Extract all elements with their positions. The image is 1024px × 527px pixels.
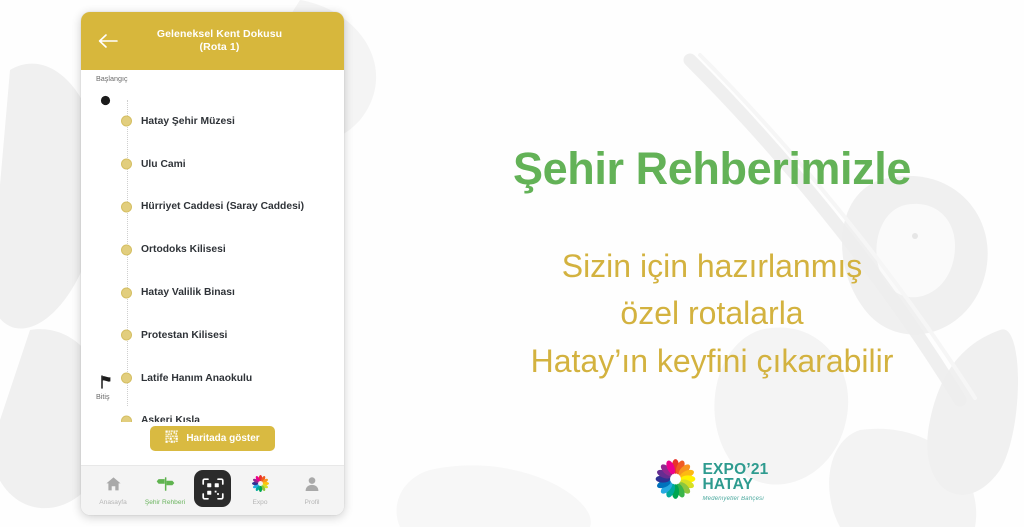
- nav-item-anasayfa[interactable]: Anasayfa: [90, 476, 136, 506]
- slide-canvas: Geleneksel Kent Dokusu (Rota 1) Başlangı…: [0, 0, 1024, 527]
- nav-item-expo[interactable]: Expo: [237, 475, 283, 506]
- expo-logo-tagline: Medeniyetler Bahçesi: [702, 496, 768, 502]
- route-node-icon: [121, 330, 132, 341]
- map-grid-icon: [165, 430, 179, 447]
- show-on-map-button[interactable]: Haritada göster: [150, 426, 274, 451]
- app-header: Geleneksel Kent Dokusu (Rota 1): [81, 12, 344, 70]
- stop-name: Hürriyet Caddesi (Saray Caddesi): [141, 201, 304, 212]
- back-arrow-icon[interactable]: [91, 24, 125, 58]
- list-item[interactable]: Askeri Kışla: [81, 400, 344, 422]
- nav-label-profil: Profil: [304, 499, 319, 506]
- route-end-label: Bitiş: [96, 392, 110, 401]
- stop-name: Latife Hanım Anaokulu: [141, 373, 252, 384]
- stop-name: Hatay Valilik Binası: [141, 287, 235, 298]
- stop-name: Ulu Cami: [141, 159, 186, 170]
- show-on-map-label: Haritada göster: [186, 433, 259, 444]
- signpost-icon: [156, 476, 175, 497]
- qr-scan-icon[interactable]: [194, 470, 231, 507]
- route-list: Başlangıç Hatay Şehir Müzesi Ulu Cami Hü…: [81, 70, 344, 422]
- list-item[interactable]: Protestan Kilisesi: [81, 314, 344, 357]
- promo-line-2: özel rotalarla: [400, 290, 1024, 337]
- expo-flower-icon: [252, 475, 269, 497]
- list-item[interactable]: Ortodoks Kilisesi: [81, 228, 344, 271]
- route-node-icon: [121, 201, 132, 212]
- expo-pinwheel-icon: [655, 459, 695, 504]
- stop-name: Hatay Şehir Müzesi: [141, 116, 235, 127]
- bottom-navigation: Anasayfa Şehir Rehberi: [81, 465, 344, 515]
- phone-mockup: Geleneksel Kent Dokusu (Rota 1) Başlangı…: [81, 12, 344, 515]
- nav-item-profil[interactable]: Profil: [289, 476, 335, 506]
- nav-label-expo: Expo: [252, 499, 267, 506]
- person-icon: [304, 476, 320, 497]
- promo-panel: Şehir Rehberimizle Sizin için hazırlanmı…: [400, 0, 1024, 527]
- nav-item-sehir-rehberi[interactable]: Şehir Rehberi: [142, 476, 188, 506]
- promo-heading: Şehir Rehberimizle: [400, 143, 1024, 195]
- expo-logo-line1: EXPO’21: [702, 462, 768, 478]
- list-item[interactable]: Hatay Valilik Binası: [81, 271, 344, 314]
- route-node-icon: [121, 287, 132, 298]
- list-item[interactable]: Hatay Şehir Müzesi: [81, 100, 344, 143]
- expo-wordmark: EXPO’21 HATAY Medeniyetler Bahçesi: [702, 462, 768, 502]
- list-item[interactable]: Latife Hanım Anaokulu: [81, 357, 344, 400]
- promo-body: Sizin için hazırlanmış özel rotalarla Ha…: [400, 243, 1024, 385]
- header-title-block: Geleneksel Kent Dokusu (Rota 1): [125, 28, 334, 55]
- expo-logo-line2: HATAY: [702, 477, 768, 493]
- page-subtitle: (Rota 1): [125, 41, 314, 54]
- expo-logo: EXPO’21 HATAY Medeniyetler Bahçesi: [655, 459, 768, 504]
- page-title: Geleneksel Kent Dokusu: [125, 28, 314, 41]
- route-node-icon: [121, 159, 132, 170]
- route-node-icon: [121, 116, 132, 127]
- nav-label-anasayfa: Anasayfa: [99, 499, 127, 506]
- stop-name: Ortodoks Kilisesi: [141, 244, 226, 255]
- list-item[interactable]: Hürriyet Caddesi (Saray Caddesi): [81, 186, 344, 229]
- promo-line-3: Hatay’ın keyfini çıkarabilir: [400, 338, 1024, 385]
- stop-name: Protestan Kilisesi: [141, 330, 227, 341]
- list-item[interactable]: Ulu Cami: [81, 143, 344, 186]
- home-icon: [105, 476, 122, 497]
- route-node-icon: [121, 373, 132, 384]
- route-node-icon: [121, 415, 132, 422]
- promo-line-1: Sizin için hazırlanmış: [400, 243, 1024, 290]
- map-button-area: Haritada göster: [81, 422, 344, 465]
- route-node-icon: [121, 244, 132, 255]
- stop-name: Askeri Kışla: [141, 415, 200, 422]
- nav-label-sehir-rehberi: Şehir Rehberi: [145, 499, 185, 506]
